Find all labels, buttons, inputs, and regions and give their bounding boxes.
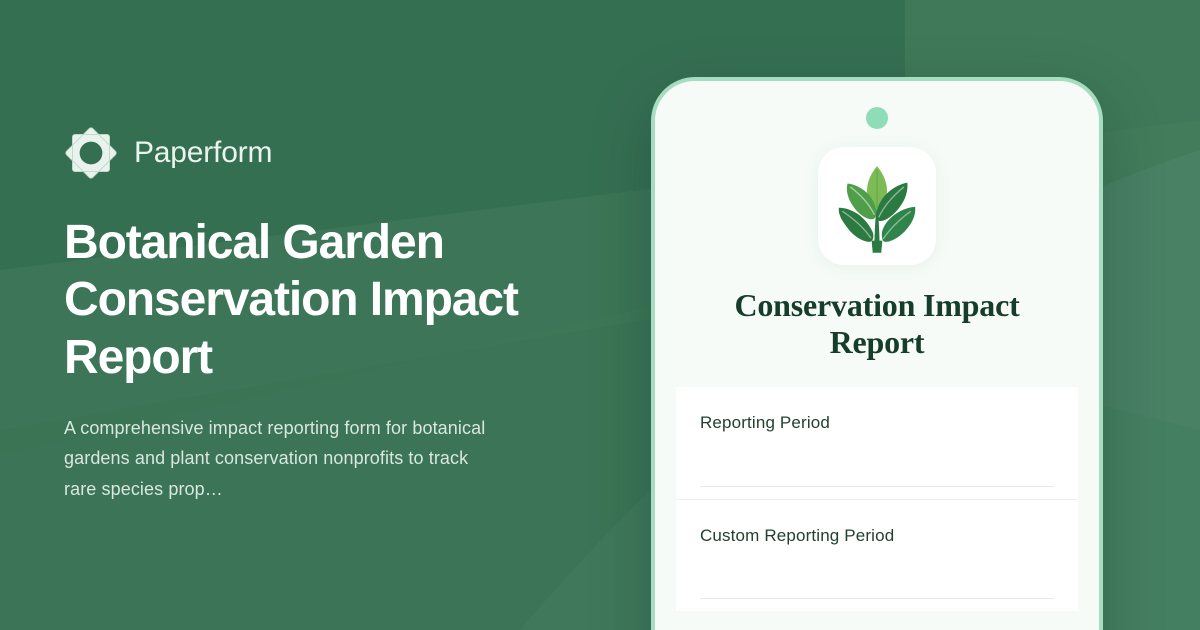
field-input-underline[interactable]	[700, 486, 1054, 487]
plant-seedling-icon	[825, 154, 929, 258]
form-logo-container	[818, 147, 936, 265]
field-label: Custom Reporting Period	[700, 526, 1054, 546]
hero-content: Paperform Botanical Garden Conservation …	[64, 0, 624, 630]
form-fields-list: Reporting Period Custom Reporting Period	[676, 387, 1078, 611]
page-title: Botanical Garden Conservation Impact Rep…	[64, 214, 584, 387]
form-field-custom-reporting-period[interactable]: Custom Reporting Period	[676, 499, 1078, 611]
form-field-reporting-period[interactable]: Reporting Period	[676, 387, 1078, 499]
field-label: Reporting Period	[700, 413, 1054, 433]
phone-screen: Conservation Impact Report Reporting Per…	[655, 81, 1099, 630]
page-description: A comprehensive impact reporting form fo…	[64, 413, 504, 505]
phone-mockup: Conservation Impact Report Reporting Per…	[651, 77, 1103, 630]
brand-lockup: Paperform	[64, 126, 624, 180]
camera-dot-icon	[866, 107, 888, 129]
field-input-underline[interactable]	[700, 598, 1054, 599]
brand-name: Paperform	[134, 136, 272, 170]
paperform-star-logo-icon	[64, 126, 118, 180]
form-title: Conservation Impact Report	[697, 287, 1057, 362]
